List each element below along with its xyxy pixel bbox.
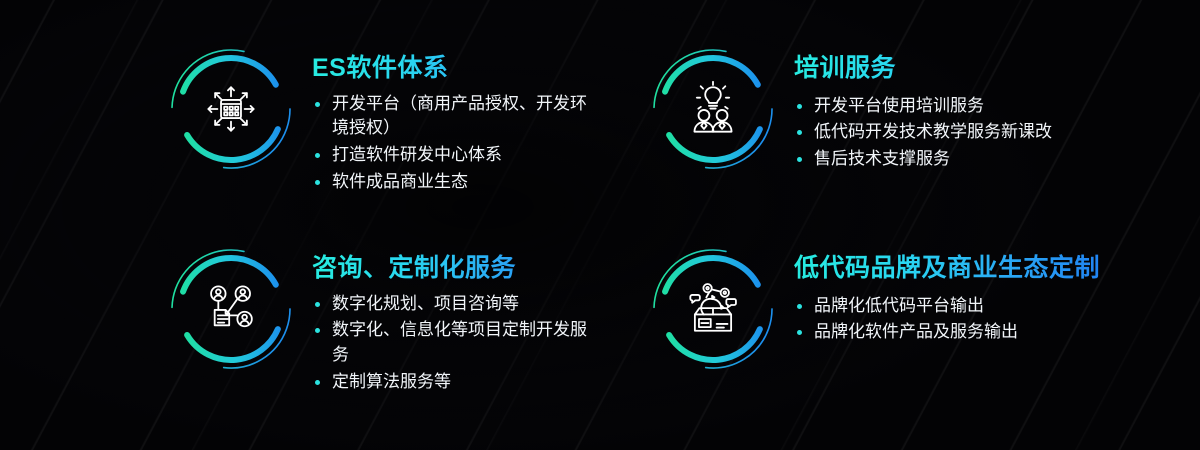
bullet-dot-icon [797,304,802,309]
list-item: 品牌化低代码平台输出 [794,294,1120,319]
card-bullet-list: 数字化规划、项目咨询等 数字化、信息化等项目定制开发服务 定制算法服务等 [312,292,598,396]
bullet-dot-icon [315,102,320,107]
list-item-label: 数字化、信息化等项目定制开发服务 [332,320,587,364]
bullet-dot-icon [797,130,802,135]
list-item: 数字化、信息化等项目定制开发服务 [312,318,598,368]
ring-badge [650,246,776,372]
card-text-column: ES软件体系 开发平台（商用产品授权、开发环境授权） 打造软件研发中心体系 软件… [294,46,598,197]
card-text-column: 培训服务 开发平台使用培训服务 低代码开发技术教学服务新课改 售后技术支撑服务 [776,46,1100,174]
list-item: 开发平台（商用产品授权、开发环境授权） [312,92,598,142]
list-item: 开发平台使用培训服务 [794,94,1100,119]
feature-card-training-service[interactable]: 培训服务 开发平台使用培训服务 低代码开发技术教学服务新课改 售后技术支撑服务 [650,46,1100,174]
bullet-dot-icon [797,330,802,335]
list-item-label: 定制算法服务等 [332,372,451,391]
ring-badge [650,46,776,172]
list-item: 数字化规划、项目咨询等 [312,292,598,317]
feature-card-lowcode-brand-ecosystem[interactable]: 低代码品牌及商业生态定制 品牌化低代码平台输出 品牌化软件产品及服务输出 [650,246,1120,372]
ring-badge [168,246,294,372]
list-item-label: 开发平台使用培训服务 [814,96,984,115]
list-item: 软件成品商业生态 [312,170,598,195]
bullet-dot-icon [315,302,320,307]
list-item-label: 数字化规划、项目咨询等 [332,294,519,313]
list-item-label: 开发平台（商用产品授权、开发环境授权） [332,94,587,138]
list-item-label: 品牌化软件产品及服务输出 [814,322,1018,341]
list-item: 打造软件研发中心体系 [312,143,598,168]
feature-card-es-software-system[interactable]: ES软件体系 开发平台（商用产品授权、开发环境授权） 打造软件研发中心体系 软件… [168,46,598,197]
lightbulb-people-icon [684,80,742,138]
bullet-dot-icon [315,380,320,385]
bullet-dot-icon [315,153,320,158]
bullet-dot-icon [797,104,802,109]
card-title: 低代码品牌及商业生态定制 [794,254,1120,284]
list-item-label: 软件成品商业生态 [332,172,468,191]
card-title: 咨询、定制化服务 [312,254,598,284]
list-item: 定制算法服务等 [312,370,598,395]
feature-card-consulting-customization-service[interactable]: 咨询、定制化服务 数字化规划、项目咨询等 数字化、信息化等项目定制开发服务 定制… [168,246,598,397]
list-item: 售后技术支撑服务 [794,147,1100,172]
slide-root: ES软件体系 开发平台（商用产品授权、开发环境授权） 打造软件研发中心体系 软件… [0,0,1200,450]
ring-badge [168,46,294,172]
list-item-label: 低代码开发技术教学服务新课改 [814,122,1052,141]
card-title: 培训服务 [794,54,1100,84]
card-text-column: 低代码品牌及商业生态定制 品牌化低代码平台输出 品牌化软件产品及服务输出 [776,246,1120,347]
list-item: 品牌化软件产品及服务输出 [794,320,1120,345]
card-bullet-list: 品牌化低代码平台输出 品牌化软件产品及服务输出 [794,294,1120,346]
card-bullet-list: 开发平台使用培训服务 低代码开发技术教学服务新课改 售后技术支撑服务 [794,94,1100,173]
people-network-document-icon [202,280,260,338]
cards-grid: ES软件体系 开发平台（商用产品授权、开发环境授权） 打造软件研发中心体系 软件… [0,0,1200,450]
card-bullet-list: 开发平台（商用产品授权、开发环境授权） 打造软件研发中心体系 软件成品商业生态 [312,92,598,196]
list-item-label: 售后技术支撑服务 [814,149,950,168]
storefront-gear-network-icon [684,280,742,338]
list-item: 低代码开发技术教学服务新课改 [794,120,1100,145]
card-text-column: 咨询、定制化服务 数字化规划、项目咨询等 数字化、信息化等项目定制开发服务 定制… [294,246,598,397]
bullet-dot-icon [315,328,320,333]
bullet-dot-icon [797,157,802,162]
card-title: ES软件体系 [312,54,598,84]
bullet-dot-icon [315,180,320,185]
list-item-label: 品牌化低代码平台输出 [814,296,984,315]
list-item-label: 打造软件研发中心体系 [332,145,502,164]
server-grid-expand-icon [202,80,260,138]
